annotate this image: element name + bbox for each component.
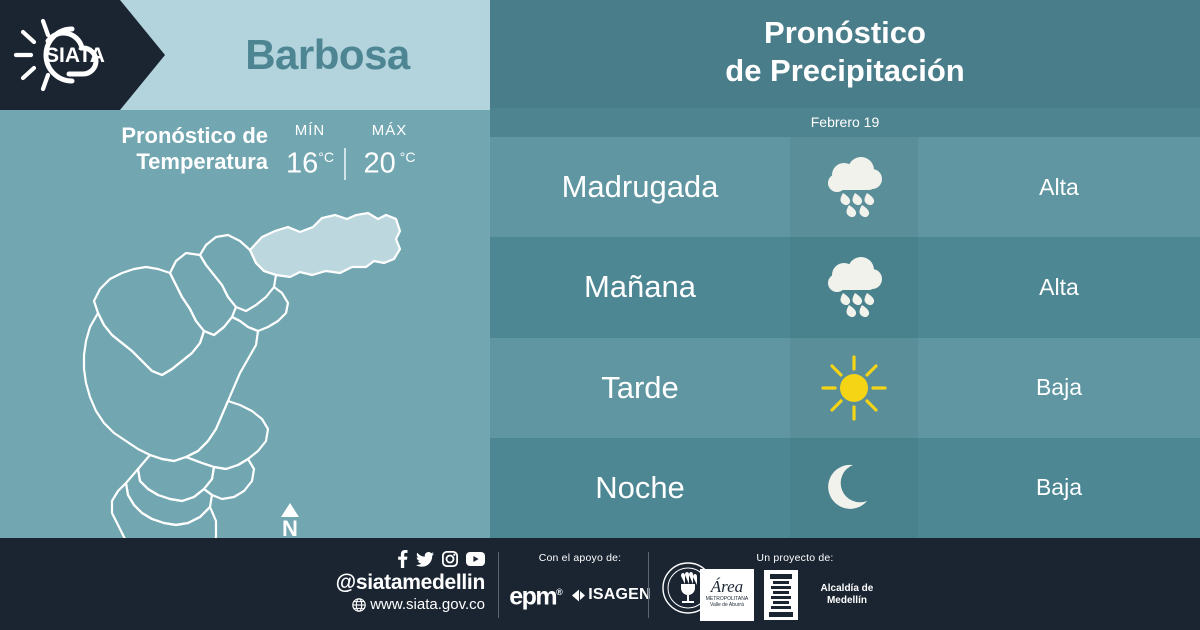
temperature-max: MÁX 20°C	[352, 121, 427, 180]
table-row[interactable]: Noche Baja	[490, 438, 1200, 538]
instagram-icon[interactable]	[442, 551, 458, 567]
temperature-title-line2: Temperatura	[136, 149, 268, 174]
amva-wordmark: Área	[700, 577, 754, 596]
social-handle[interactable]: @siatamedellin	[300, 571, 485, 595]
siata-logo-block: SIATA	[0, 0, 165, 110]
support-block: Con el apoyo de: epm® ISAGEN	[510, 552, 650, 617]
website-url: www.siata.gov.co	[370, 595, 485, 614]
left-panel: SIATA Barbosa Pronóstico de Temperatura …	[0, 0, 490, 538]
social-block: @siatamedellin www.siata.gov.co	[300, 550, 485, 614]
footer-divider-2	[648, 552, 649, 618]
precipitation-level: Baja	[918, 474, 1200, 501]
precipitation-level: Alta	[918, 174, 1200, 201]
right-panel: Pronóstico de Precipitación Febrero 19 M…	[490, 0, 1200, 538]
temperature-title-line1: Pronóstico de	[121, 123, 268, 148]
globe-icon	[352, 598, 366, 612]
youtube-icon[interactable]	[466, 552, 485, 566]
alcaldia-crest-icon	[764, 570, 798, 620]
temperature-min-value: 16°C	[275, 141, 345, 180]
website-line[interactable]: www.siata.gov.co	[300, 595, 485, 614]
temperature-max-label: MÁX	[352, 121, 427, 141]
project-logos: Área METROPOLITANA Valle de Aburrá	[700, 573, 890, 617]
forecast-rows: Madrugada	[490, 137, 1200, 538]
rain-cloud-icon	[790, 237, 918, 337]
project-caption: Un proyecto de:	[700, 552, 890, 564]
facebook-icon[interactable]	[397, 550, 408, 568]
support-caption: Con el apoyo de:	[510, 552, 650, 564]
temperature-min: MÍN 16°C	[275, 121, 345, 180]
map-region-bello[interactable]	[94, 267, 204, 375]
table-row[interactable]: Tarde	[490, 338, 1200, 438]
temperature-title: Pronóstico de Temperatura	[38, 123, 268, 175]
compass-label: N	[272, 518, 308, 538]
north-arrow-icon	[281, 503, 299, 517]
forecast-date: Febrero 19	[490, 108, 1200, 137]
period-label: Madrugada	[490, 169, 790, 205]
rain-cloud-icon	[790, 137, 918, 237]
svg-text:SIATA: SIATA	[45, 44, 105, 67]
alcaldia-medellin-logo[interactable]: Alcaldía de Medellín	[764, 570, 890, 620]
map-region-medellin[interactable]	[84, 313, 258, 461]
table-row[interactable]: Madrugada	[490, 137, 1200, 237]
epm-logo[interactable]: epm®	[509, 580, 561, 609]
area-metropolitana-logo[interactable]: Área METROPOLITANA Valle de Aburrá	[700, 569, 754, 621]
aburra-valley-map: N	[0, 175, 490, 538]
amva-sub2: Valle de Aburrá	[710, 602, 744, 608]
footer-divider-1	[498, 552, 499, 618]
map-region-barbosa[interactable]	[250, 213, 400, 277]
project-block: Un proyecto de: Área METROPOLITANA Valle…	[700, 552, 890, 617]
map-region-itagui[interactable]	[138, 455, 214, 501]
temperature-max-value: 20°C	[352, 141, 427, 180]
support-logos: epm® ISAGEN	[510, 573, 650, 617]
precipitation-title-line1: Pronóstico	[764, 15, 926, 50]
map-region-sabaneta[interactable]	[204, 459, 254, 499]
compass-north: N	[272, 503, 308, 538]
period-label: Tarde	[490, 370, 790, 406]
map-region-envigado[interactable]	[186, 401, 268, 469]
footer: @siatamedellin www.siata.gov.co Con el a…	[0, 538, 1200, 630]
period-label: Noche	[490, 470, 790, 506]
city-header: SIATA Barbosa	[0, 0, 490, 110]
isagen-mark-icon	[571, 588, 586, 603]
precipitation-level: Alta	[918, 274, 1200, 301]
twitter-icon[interactable]	[416, 552, 434, 567]
table-row[interactable]: Mañana	[490, 237, 1200, 337]
temperature-min-unit: °C	[318, 149, 334, 165]
precipitation-level: Baja	[918, 374, 1200, 401]
map-svg	[0, 175, 490, 538]
isagen-logo[interactable]: ISAGEN	[571, 586, 651, 604]
sun-icon	[790, 338, 918, 438]
temperature-max-unit: °C	[400, 149, 416, 165]
moon-icon	[790, 438, 918, 538]
city-name: Barbosa	[165, 0, 490, 110]
precipitation-title: Pronóstico de Precipitación	[490, 0, 1200, 108]
social-icons	[300, 550, 485, 568]
precipitation-title-line2: de Precipitación	[725, 53, 964, 88]
alcaldia-label: Alcaldía de Medellín	[804, 583, 890, 607]
temperature-min-label: MÍN	[275, 121, 345, 141]
sun-cloud-icon: SIATA	[12, 16, 142, 94]
period-label: Mañana	[490, 269, 790, 305]
weather-forecast-poster: SIATA Barbosa Pronóstico de Temperatura …	[0, 0, 1200, 630]
